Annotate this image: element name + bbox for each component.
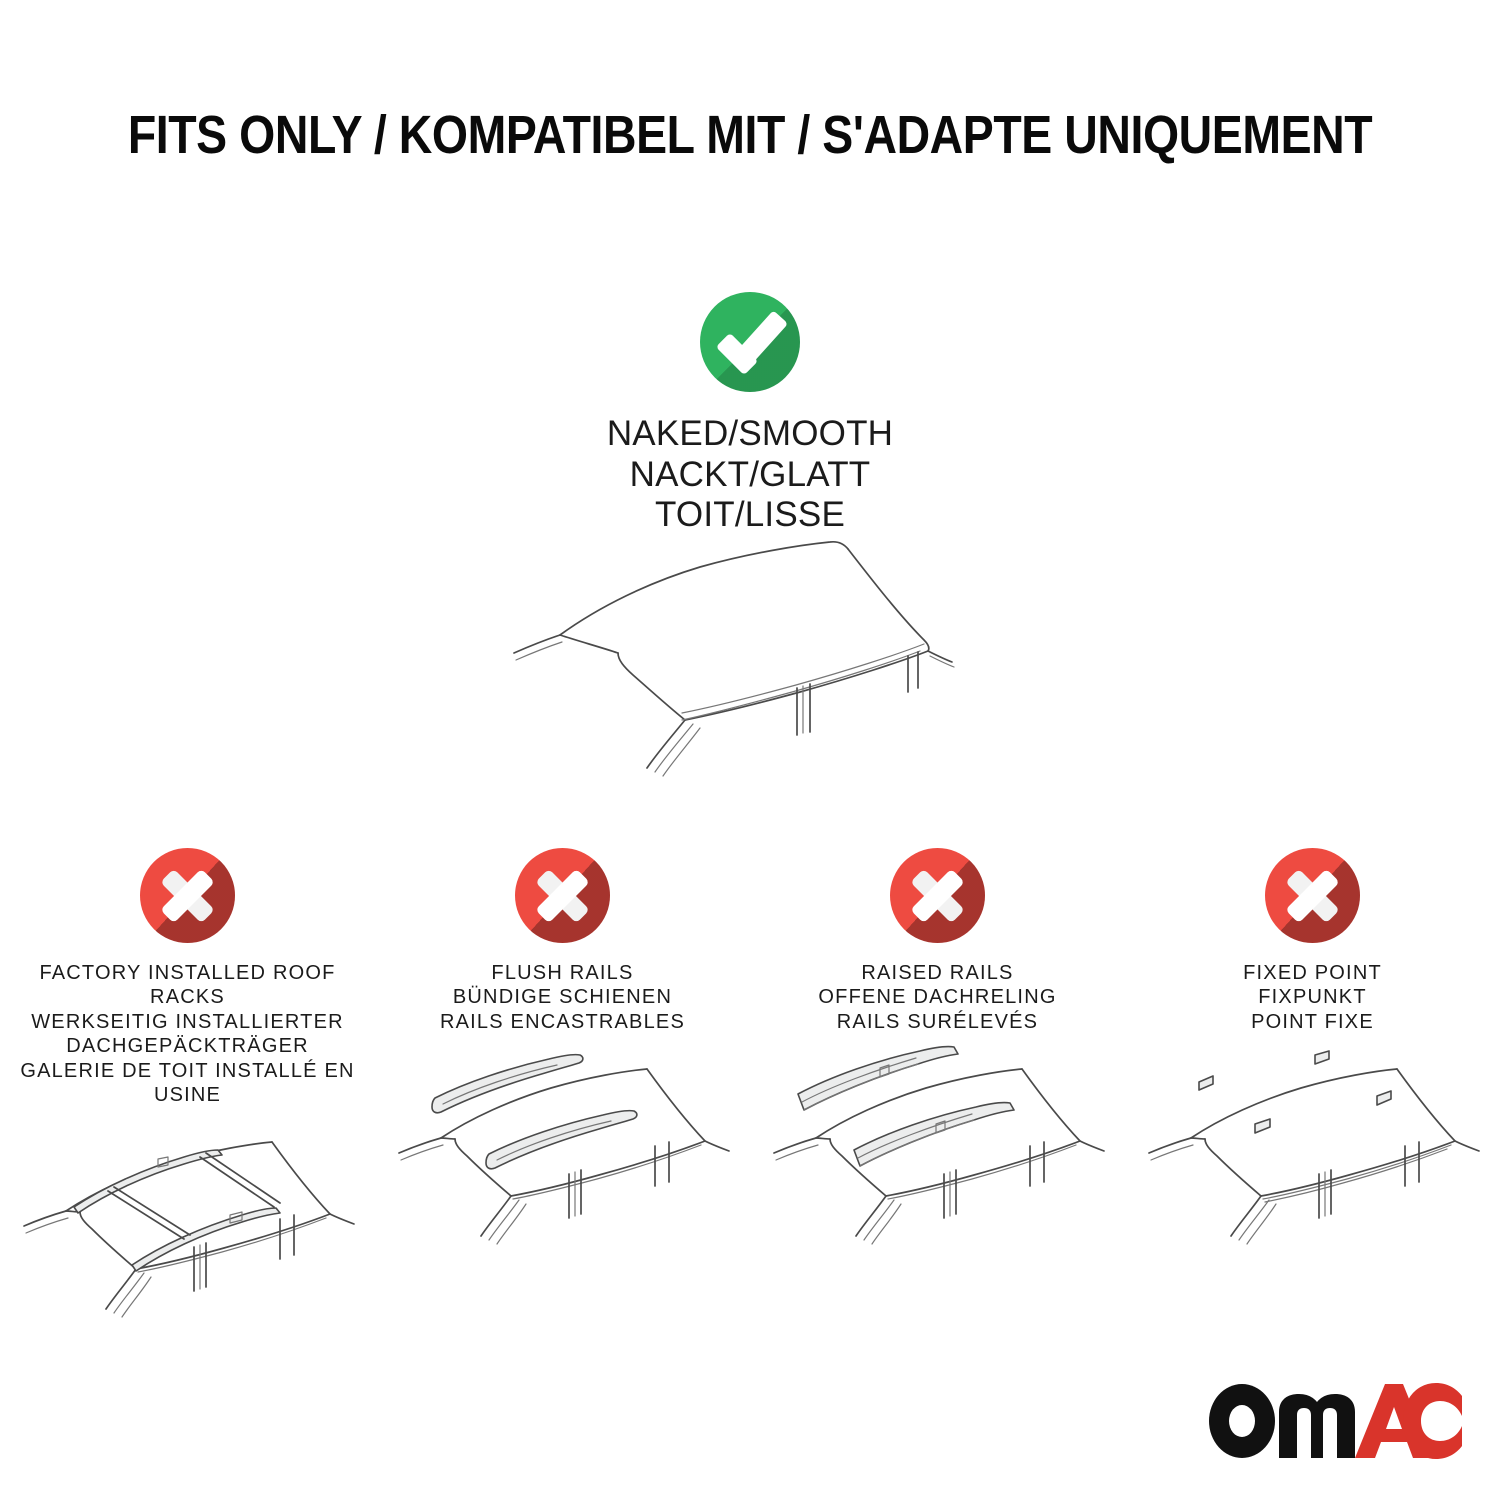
green-check-circle-icon xyxy=(700,292,800,392)
fitment-infographic: FITS ONLY / KOMPATIBEL MIT / S'ADAPTE UN… xyxy=(0,0,1500,1500)
incompatible-label-line2: FIXPUNKT xyxy=(1243,985,1382,1009)
red-x-circle-icon xyxy=(140,848,235,943)
red-x-circle-icon xyxy=(1265,848,1360,943)
incompatible-label: FACTORY INSTALLED ROOF RACKS WERKSEITIG … xyxy=(0,961,375,1107)
incompatible-label-line3: DACHGEPÄCKTRÄGER xyxy=(0,1034,375,1058)
incompatible-label: RAISED RAILS OFFENE DACHRELING RAILS SUR… xyxy=(818,961,1056,1034)
compatible-label: NAKED/SMOOTH NACKT/GLATT TOIT/LISSE xyxy=(607,414,893,536)
compatible-label-line1: NAKED/SMOOTH xyxy=(607,414,893,455)
x-glyph xyxy=(890,848,985,943)
incompatible-label: FLUSH RAILS BÜNDIGE SCHIENEN RAILS ENCAS… xyxy=(440,961,685,1034)
incompatible-label-line1: FLUSH RAILS xyxy=(440,961,685,985)
incompatible-label-line2: BÜNDIGE SCHIENEN xyxy=(440,985,685,1009)
incompatible-item-factory-roof-racks: FACTORY INSTALLED ROOF RACKS WERKSEITIG … xyxy=(0,848,375,1329)
car-roof-flush-rails-illustration xyxy=(375,1046,750,1256)
incompatible-item-raised-rails: RAISED RAILS OFFENE DACHRELING RAILS SUR… xyxy=(750,848,1125,1329)
compatible-label-line2: NACKT/GLATT xyxy=(607,455,893,496)
incompatible-label-line1: FACTORY INSTALLED ROOF RACKS xyxy=(0,961,375,1010)
car-roof-factory-roof-racks-illustration xyxy=(0,1119,375,1329)
incompatible-label-line1: RAISED RAILS xyxy=(818,961,1056,985)
incompatible-label-line3: RAILS SURÉLEVÉS xyxy=(818,1010,1056,1034)
incompatible-label-line1: FIXED POINT xyxy=(1243,961,1382,985)
check-glyph xyxy=(700,292,800,392)
incompatible-label-line2: OFFENE DACHRELING xyxy=(818,985,1056,1009)
red-x-circle-icon xyxy=(890,848,985,943)
incompatible-label-line3: RAILS ENCASTRABLES xyxy=(440,1010,685,1034)
x-glyph xyxy=(140,848,235,943)
red-x-circle-icon xyxy=(515,848,610,943)
incompatible-label: FIXED POINT FIXPUNKT POINT FIXE xyxy=(1243,961,1382,1034)
incompatible-label-line4: GALERIE DE TOIT INSTALLÉ EN USINE xyxy=(0,1059,375,1108)
car-roof-fixed-point-illustration xyxy=(1125,1046,1500,1256)
incompatible-label-line3: POINT FIXE xyxy=(1243,1010,1382,1034)
compatible-section: NAKED/SMOOTH NACKT/GLATT TOIT/LISSE xyxy=(0,292,1500,536)
car-roof-raised-rails-illustration xyxy=(750,1046,1125,1256)
x-glyph xyxy=(515,848,610,943)
incompatible-item-fixed-point: FIXED POINT FIXPUNKT POINT FIXE xyxy=(1125,848,1500,1329)
incompatible-label-line2: WERKSEITIG INSTALLIERTER xyxy=(0,1010,375,1034)
incompatible-row: FACTORY INSTALLED ROOF RACKS WERKSEITIG … xyxy=(0,848,1500,1329)
incompatible-item-flush-rails: FLUSH RAILS BÜNDIGE SCHIENEN RAILS ENCAS… xyxy=(375,848,750,1329)
page-title: FITS ONLY / KOMPATIBEL MIT / S'ADAPTE UN… xyxy=(105,104,1395,166)
omac-logo xyxy=(1207,1382,1462,1460)
x-glyph xyxy=(1265,848,1360,943)
car-roof-naked-smooth-illustration xyxy=(500,520,1000,800)
